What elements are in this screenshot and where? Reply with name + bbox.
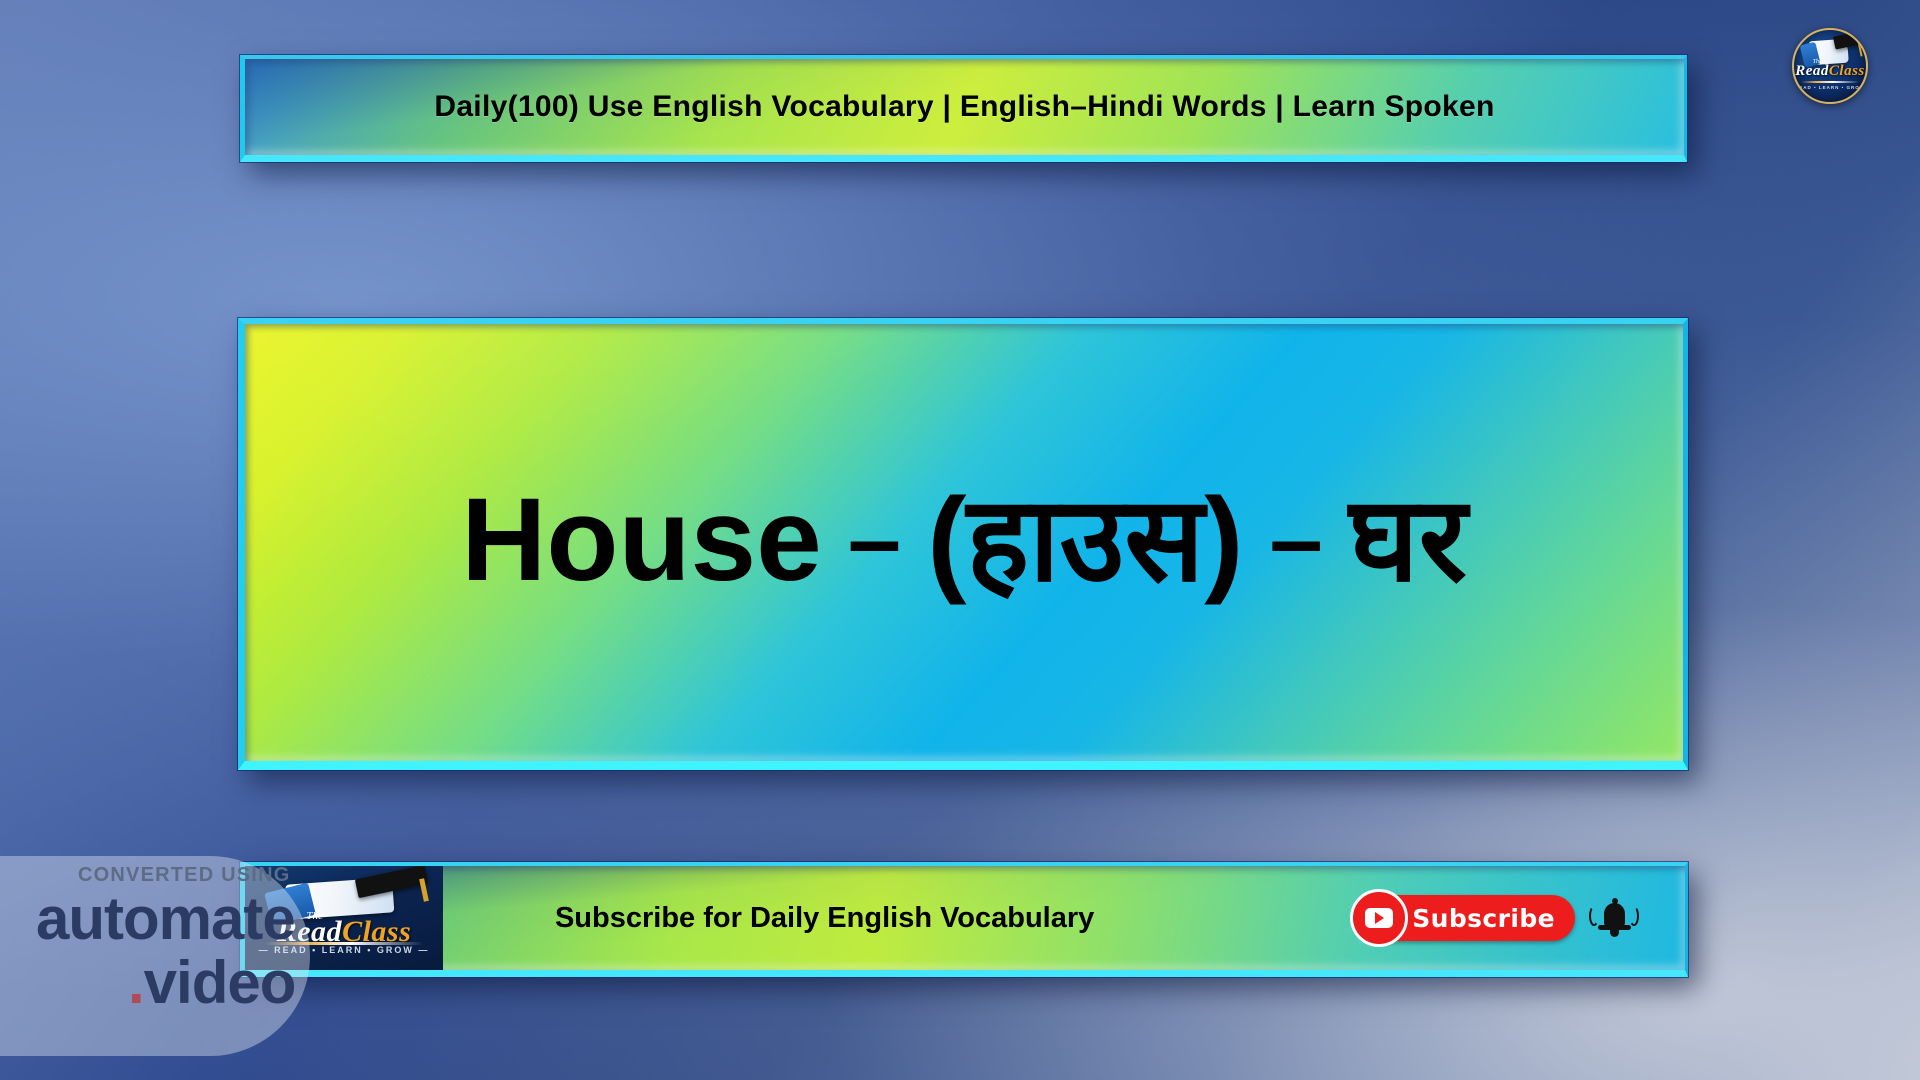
vocabulary-slide: Daily(100) Use English Vocabulary | Engl…	[0, 0, 1920, 1080]
watermark-dot: .	[128, 949, 144, 1016]
title-text: Daily(100) Use English Vocabulary | Engl…	[245, 59, 1684, 155]
brand-name-first: Read	[1795, 63, 1829, 79]
subscribe-button-label: Subscribe	[1412, 904, 1555, 933]
word-english: House	[461, 481, 822, 599]
brand-swoosh	[1801, 81, 1859, 83]
subscribe-message: Subscribe for Daily English Vocabulary	[443, 902, 1356, 935]
youtube-play-icon	[1350, 889, 1408, 947]
subscribe-button[interactable]: Subscribe	[1356, 895, 1575, 941]
word-transliteration: (हाउस)	[927, 481, 1243, 599]
vocabulary-word-line: House – (हाउस) – घर	[245, 324, 1683, 761]
word-separator-1: –	[848, 492, 901, 588]
subscribe-call-to-action: Subscribe	[1356, 895, 1685, 941]
read-class-logo-art: The ReadClass — READ • LEARN • GROW —	[245, 866, 443, 970]
word-hindi-meaning: घर	[1349, 481, 1467, 599]
notification-bell-icon[interactable]	[1589, 896, 1639, 940]
vocabulary-word-card: House – (हाउस) – घर	[238, 318, 1688, 770]
subscribe-banner: The ReadClass — READ • LEARN • GROW — Su…	[240, 862, 1688, 977]
word-separator-2: –	[1269, 492, 1322, 588]
channel-badge-logo: The ReadClass — READ • LEARN • GROW —	[1792, 28, 1868, 104]
brand-tagline: — READ • LEARN • GROW —	[1792, 85, 1868, 90]
title-banner: Daily(100) Use English Vocabulary | Engl…	[240, 55, 1687, 162]
brand-tagline: — READ • LEARN • GROW —	[259, 945, 430, 955]
channel-logo-tile: The ReadClass — READ • LEARN • GROW —	[245, 866, 443, 970]
brand-name: ReadClass	[1795, 63, 1865, 80]
brand-name-second: Class	[1829, 63, 1865, 79]
read-class-logo-art: The ReadClass — READ • LEARN • GROW —	[1794, 30, 1866, 102]
